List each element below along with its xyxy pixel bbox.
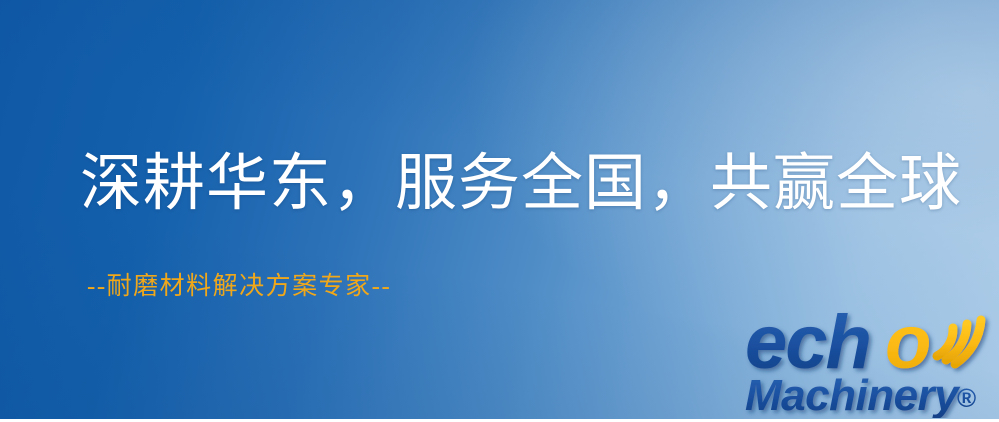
company-logo: ech o Machinery ® [741, 294, 993, 418]
banner-headline: 深耕华东，服务全国，共赢全球 [80, 148, 962, 221]
logo-svg: ech o Machinery ® [741, 294, 993, 418]
banner-content: 深耕华东，服务全国，共赢全球 --耐磨材料解决方案专家-- [0, 0, 999, 422]
signal-waves-icon [937, 320, 981, 364]
logo-tagline: Machinery [745, 371, 961, 418]
registered-trademark-symbol: ® [957, 383, 976, 413]
promotional-banner: 深耕华东，服务全国，共赢全球 --耐磨材料解决方案专家-- [0, 0, 999, 422]
banner-subtitle: --耐磨材料解决方案专家-- [87, 266, 391, 302]
